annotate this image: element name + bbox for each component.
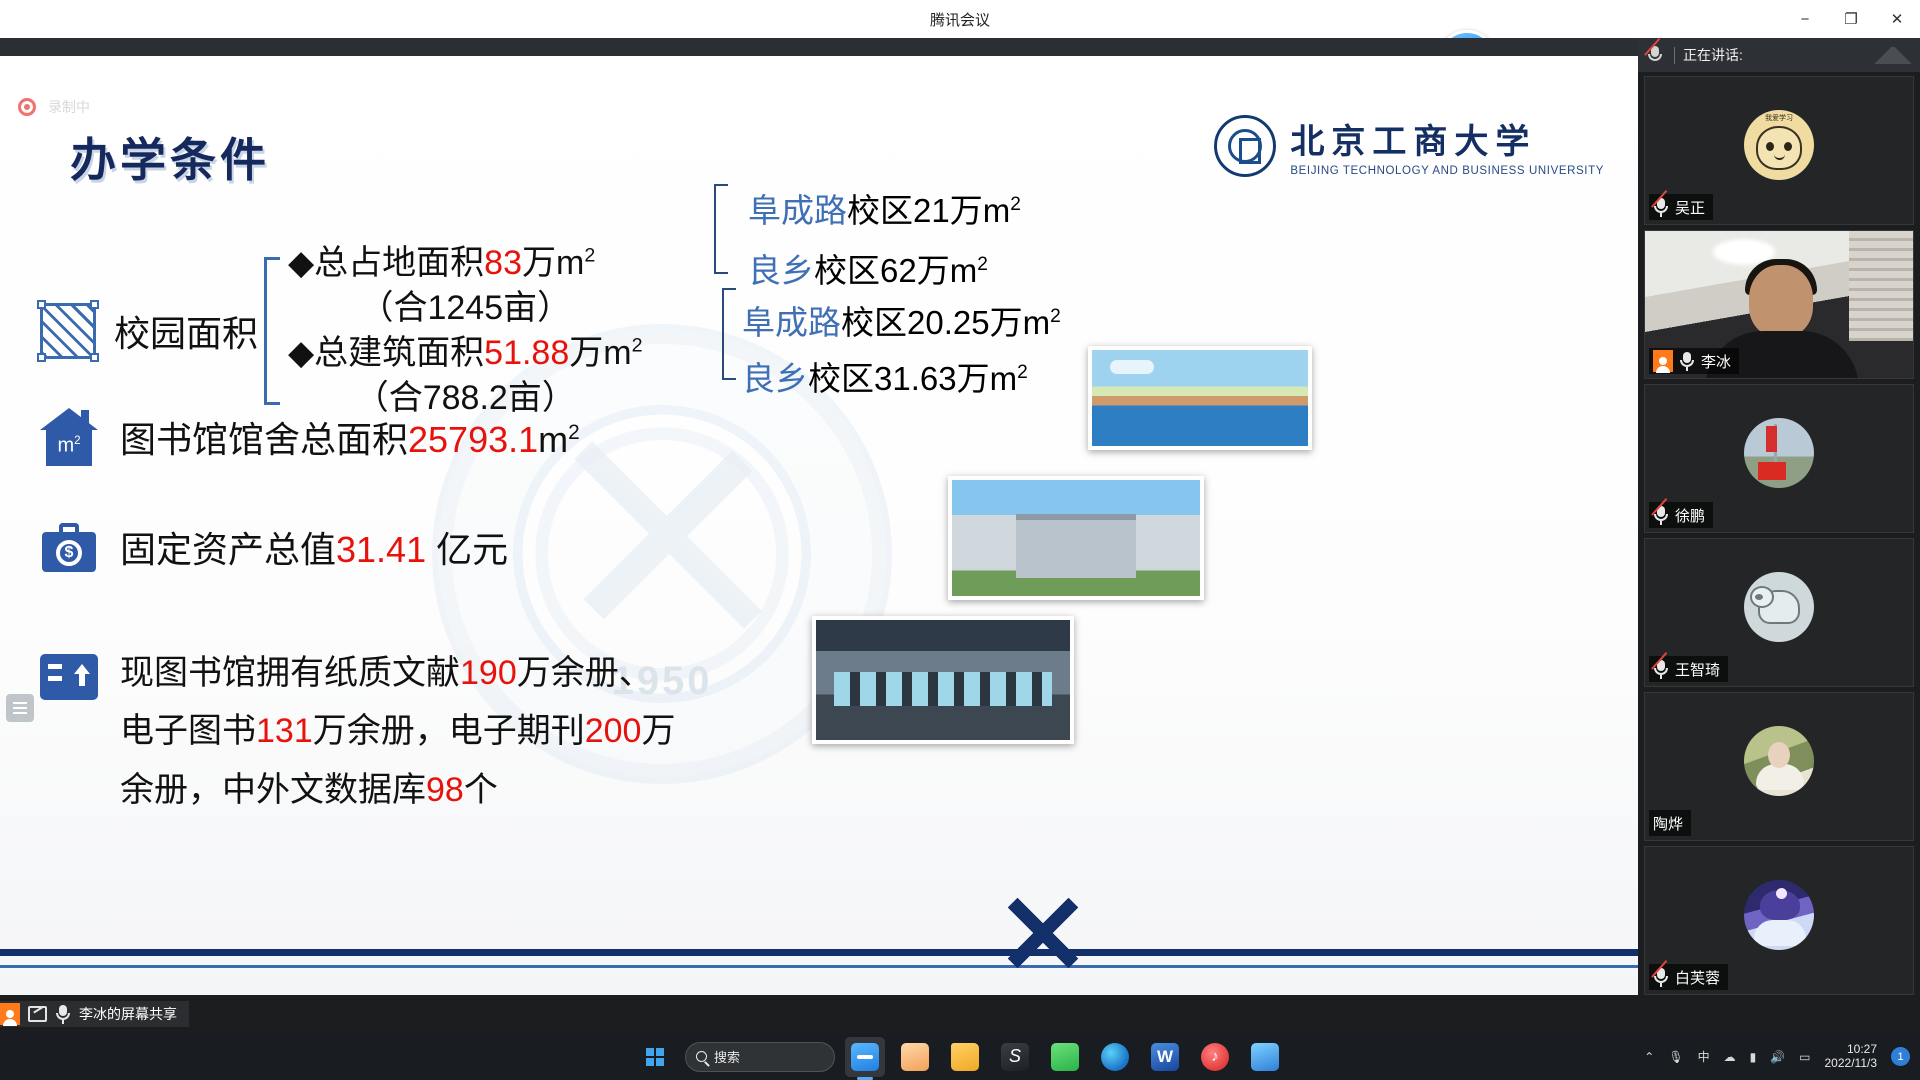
campus-line-2: （合1245亩）	[288, 286, 643, 331]
fixed-assets-row: $ 固定资产总值31.41 亿元	[40, 518, 508, 576]
participant-tiles[interactable]: 我爱学习吴正李冰徐鹏王智琦陶烨白芙蓉	[1638, 72, 1920, 1033]
taskbar-app-word[interactable]: W	[1145, 1037, 1185, 1077]
word-icon: W	[1151, 1043, 1179, 1071]
recording-label: 录制中	[44, 96, 94, 118]
campus-lake-photo	[1088, 346, 1312, 450]
tray-mic-icon[interactable]: 🎙	[1668, 1050, 1683, 1064]
windows-taskbar: 搜索 SW♪ ⌃ 🎙 中 ☁ ▮ 🔊 ▭ 10:27 2022/11/3 1	[0, 1033, 1920, 1080]
slide-bottom-ornament	[0, 868, 1638, 996]
mic-off-icon	[1653, 659, 1669, 679]
sogou-input-icon: S	[1001, 1043, 1029, 1071]
participant-name: 徐鹏	[1675, 505, 1705, 526]
taskbar-search-box[interactable]: 搜索	[685, 1042, 835, 1072]
fixed-assets-text: 固定资产总值31.41 亿元	[120, 521, 508, 573]
taskbar-app-wechat[interactable]	[1045, 1037, 1085, 1077]
campus-line-1: ◆总占地面积83万m2	[288, 241, 643, 286]
share-screen-icon	[28, 1006, 47, 1022]
avatar	[1744, 572, 1814, 642]
speaking-now-label: 正在讲话:	[1683, 45, 1743, 65]
library-area-text: 图书馆馆舍总面积25793.1m2	[120, 411, 580, 463]
avatar	[1744, 418, 1814, 488]
mic-off-icon	[1653, 197, 1669, 217]
participant-nametag: 李冰	[1649, 348, 1739, 374]
meeting-app-body: 1950 录制中 办学条件 北京工商大学 BEIJING TECHNOLOGY …	[0, 38, 1920, 1033]
taskbar-app-photos[interactable]	[895, 1037, 935, 1077]
chart-app-icon	[1251, 1043, 1279, 1071]
participant-tile[interactable]: 陶烨	[1644, 692, 1914, 841]
taskbar-clock[interactable]: 10:27 2022/11/3	[1825, 1043, 1878, 1071]
campus-detail-1: 阜成路校区21万m2	[748, 184, 1021, 232]
campus-bracket	[264, 257, 280, 405]
campus-detail-2: 良乡校区62万m2	[748, 244, 988, 292]
host-badge-icon	[1653, 350, 1673, 372]
campus-sub-bracket-2	[722, 288, 736, 380]
campus-area-icon	[40, 303, 96, 359]
library-collection-lines: 现图书馆拥有纸质文献190万余册、 电子图书131万余册，电子期刊200万 余册…	[120, 644, 675, 819]
mic-icon	[1679, 351, 1695, 371]
screen-share-bar: 李冰的屏幕共享	[0, 995, 1638, 1033]
campus-area-lines: ◆总占地面积83万m2 （合1245亩） ◆总建筑面积51.88万m2 （合78…	[288, 241, 643, 421]
record-dot-icon	[18, 98, 36, 116]
recording-indicator: 录制中	[18, 96, 94, 118]
screen-share-label: 李冰的屏幕共享	[79, 1004, 177, 1024]
notification-badge[interactable]: 1	[1891, 1047, 1910, 1066]
campus-detail-4: 良乡校区31.63万m2	[742, 352, 1028, 400]
campus-area-label: 校园面积	[114, 305, 258, 357]
house-area-icon: m2	[40, 408, 98, 466]
file-explorer-icon	[951, 1043, 979, 1071]
participant-tile[interactable]: 王智琦	[1644, 538, 1914, 687]
taskbar-app-sogou-input[interactable]: S	[995, 1037, 1035, 1077]
photos-icon	[901, 1043, 929, 1071]
books-line-2: 电子图书131万余册，电子期刊200万	[120, 702, 675, 760]
mic-icon	[55, 1004, 71, 1024]
taskbar-app-chart-app[interactable]	[1245, 1037, 1285, 1077]
taskbar-app-netease-music[interactable]: ♪	[1195, 1037, 1235, 1077]
window-controls: − ❐ ✕	[1782, 0, 1920, 38]
books-line-1: 现图书馆拥有纸质文献190万余册、	[120, 644, 675, 702]
avatar	[1744, 726, 1814, 796]
participant-name: 王智琦	[1675, 659, 1720, 680]
book-scanner-icon	[40, 650, 98, 708]
tray-expand-icon[interactable]: ⌃	[1644, 1050, 1654, 1064]
participant-tile[interactable]: 我爱学习吴正	[1644, 76, 1914, 225]
participant-name: 白芙蓉	[1675, 967, 1720, 988]
school-name-cn: 北京工商大学	[1290, 114, 1604, 163]
campus-detail-3: 阜成路校区20.25万m2	[742, 296, 1061, 344]
participant-name: 吴正	[1675, 197, 1705, 218]
panel-header: 正在讲话:	[1638, 38, 1920, 72]
taskbar-app-file-explorer[interactable]	[945, 1037, 985, 1077]
start-button[interactable]	[635, 1037, 675, 1077]
clock-time: 10:27	[1847, 1043, 1877, 1057]
participant-name: 陶烨	[1653, 813, 1683, 834]
participants-panel: 正在讲话: 我爱学习吴正李冰徐鹏王智琦陶烨白芙蓉	[1638, 38, 1920, 1033]
school-crest-icon	[1214, 115, 1276, 177]
host-badge-icon	[0, 1003, 20, 1025]
library-area-row: m2 图书馆馆舍总面积25793.1m2	[40, 408, 580, 466]
campus-building-photo	[948, 476, 1204, 600]
netease-music-icon: ♪	[1201, 1043, 1229, 1071]
maximize-button[interactable]: ❐	[1828, 0, 1874, 38]
school-logo: 北京工商大学 BEIJING TECHNOLOGY AND BUSINESS U…	[1214, 114, 1604, 177]
window-title: 腾讯会议	[0, 9, 1920, 30]
taskbar-app-edge-browser[interactable]	[1095, 1037, 1135, 1077]
avatar: 我爱学习	[1744, 110, 1814, 180]
avatar	[1744, 880, 1814, 950]
tencent-meeting-icon	[851, 1043, 879, 1071]
participant-tile[interactable]: 徐鹏	[1644, 384, 1914, 533]
participant-nametag: 徐鹏	[1649, 502, 1713, 528]
tray-battery-icon[interactable]: ▭	[1799, 1050, 1810, 1064]
participant-tile[interactable]: 白芙蓉	[1644, 846, 1914, 995]
taskbar-app-list: SW♪	[845, 1037, 1285, 1077]
clock-date: 2022/11/3	[1825, 1057, 1878, 1071]
participant-nametag: 吴正	[1649, 194, 1713, 220]
window-title-bar: 腾讯会议 − ❐ ✕	[0, 0, 1920, 38]
computer-lab-photo	[812, 616, 1074, 744]
tray-network-icon[interactable]: ▮	[1750, 1050, 1757, 1064]
search-placeholder: 搜索	[714, 1047, 740, 1066]
participant-nametag: 陶烨	[1649, 810, 1691, 836]
wemeet-logo-icon	[1874, 47, 1912, 64]
slide-thumbnail-toggle[interactable]	[6, 694, 34, 722]
campus-sub-bracket-1	[714, 184, 728, 274]
edge-browser-icon	[1101, 1043, 1129, 1071]
mic-off-icon	[1653, 505, 1669, 525]
taskbar-system-tray: ⌃ 🎙 中 ☁ ▮ 🔊 ▭ 10:27 2022/11/3 1	[1644, 1043, 1910, 1071]
ime-indicator[interactable]: 中	[1698, 1048, 1710, 1065]
library-collection-row: 现图书馆拥有纸质文献190万余册、 电子图书131万余册，电子期刊200万 余册…	[40, 644, 675, 819]
wechat-icon	[1051, 1043, 1079, 1071]
taskbar-center-group: 搜索 SW♪	[635, 1037, 1285, 1077]
participant-name: 李冰	[1701, 351, 1731, 372]
briefcase-money-icon: $	[40, 518, 98, 576]
tray-cloud-icon[interactable]: ☁	[1724, 1050, 1736, 1064]
shared-screen-stage[interactable]: 1950 录制中 办学条件 北京工商大学 BEIJING TECHNOLOGY …	[0, 38, 1638, 995]
participant-nametag: 白芙蓉	[1649, 964, 1728, 990]
campus-line-3: ◆总建筑面积51.88万m2	[288, 331, 643, 376]
campus-area-row: 校园面积 ◆总占地面积83万m2 （合1245亩） ◆总建筑面积51.88万m2…	[40, 241, 643, 421]
tray-volume-icon[interactable]: 🔊	[1770, 1050, 1785, 1064]
header-divider	[1674, 47, 1675, 64]
mic-off-icon	[1653, 967, 1669, 987]
mic-off-icon	[1646, 45, 1666, 65]
search-icon	[696, 1051, 707, 1062]
participant-tile[interactable]: 李冰	[1644, 230, 1914, 379]
participant-nametag: 王智琦	[1649, 656, 1728, 682]
school-name-en: BEIJING TECHNOLOGY AND BUSINESS UNIVERSI…	[1290, 165, 1604, 177]
books-line-3: 余册，中外文数据库98个	[120, 761, 675, 819]
minimize-button[interactable]: −	[1782, 0, 1828, 38]
screen-share-chip[interactable]: 李冰的屏幕共享	[0, 1001, 189, 1027]
taskbar-app-tencent-meeting[interactable]	[845, 1037, 885, 1077]
slide-title: 办学条件	[70, 124, 270, 190]
close-button[interactable]: ✕	[1874, 0, 1920, 38]
presentation-slide: 1950 录制中 办学条件 北京工商大学 BEIJING TECHNOLOGY …	[0, 56, 1638, 996]
